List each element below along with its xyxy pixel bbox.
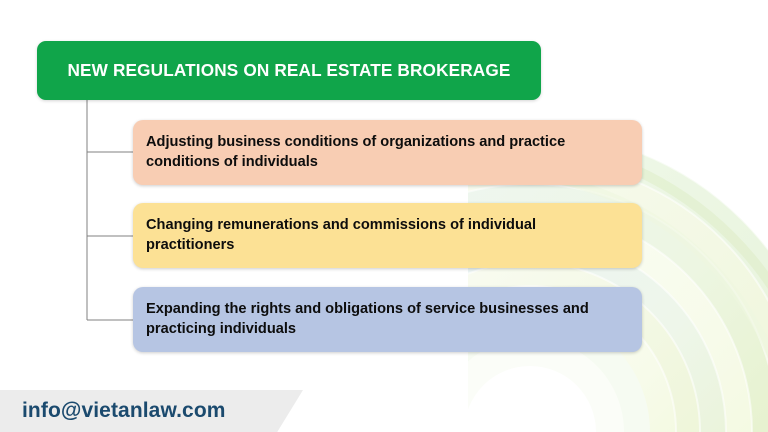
list-item: Adjusting business conditions of organiz… — [133, 120, 642, 185]
page-title: NEW REGULATIONS ON REAL ESTATE BROKERAGE — [67, 60, 510, 81]
list-item-label: Changing remunerations and commissions o… — [133, 216, 642, 255]
list-item: Expanding the rights and obligations of … — [133, 287, 642, 352]
list-item: Changing remunerations and commissions o… — [133, 203, 642, 268]
list-item-label: Adjusting business conditions of organiz… — [133, 133, 642, 172]
footer-email: info@vietanlaw.com — [22, 396, 226, 426]
slide-title-box: NEW REGULATIONS ON REAL ESTATE BROKERAGE — [37, 41, 541, 100]
list-item-label: Expanding the rights and obligations of … — [133, 300, 642, 339]
slide-canvas: NEW REGULATIONS ON REAL ESTATE BROKERAGE… — [0, 0, 768, 432]
